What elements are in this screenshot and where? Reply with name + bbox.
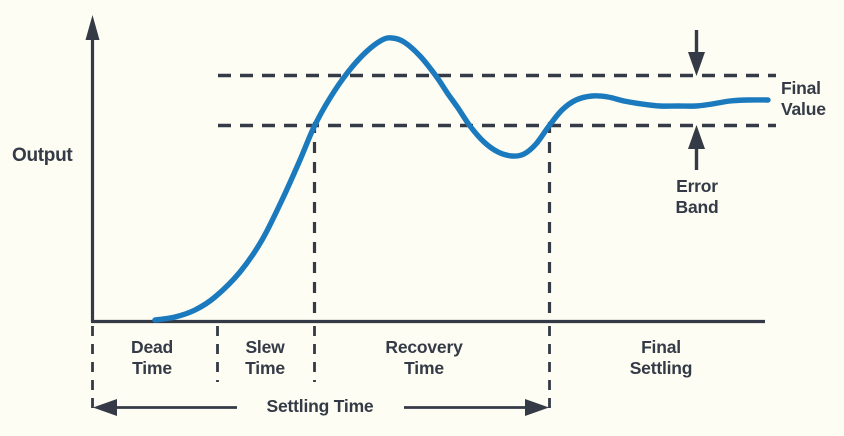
diagram-canvas: Output Final Value Error Band Dead Time … xyxy=(0,0,844,436)
segment-label-final-settling: Final Settling xyxy=(630,337,693,378)
error-band-label: Error Band xyxy=(676,176,719,217)
y-axis-arrow-icon xyxy=(86,15,100,40)
y-axis xyxy=(86,15,100,322)
y-axis-label: Output xyxy=(12,145,72,167)
error-band-top-arrow-icon xyxy=(688,30,705,76)
settling-time-label: Settling Time xyxy=(267,396,374,417)
segment-label-recovery-time: Recovery Time xyxy=(385,337,462,378)
final-value-label: Final Value xyxy=(781,78,826,119)
error-band-bottom-arrow-icon xyxy=(688,125,705,170)
settling-time-left-arrow-icon xyxy=(93,399,117,416)
settling-time-right-arrow-icon xyxy=(525,399,549,416)
segment-label-dead-time: Dead Time xyxy=(131,337,173,378)
segment-label-slew-time: Slew Time xyxy=(245,337,285,378)
